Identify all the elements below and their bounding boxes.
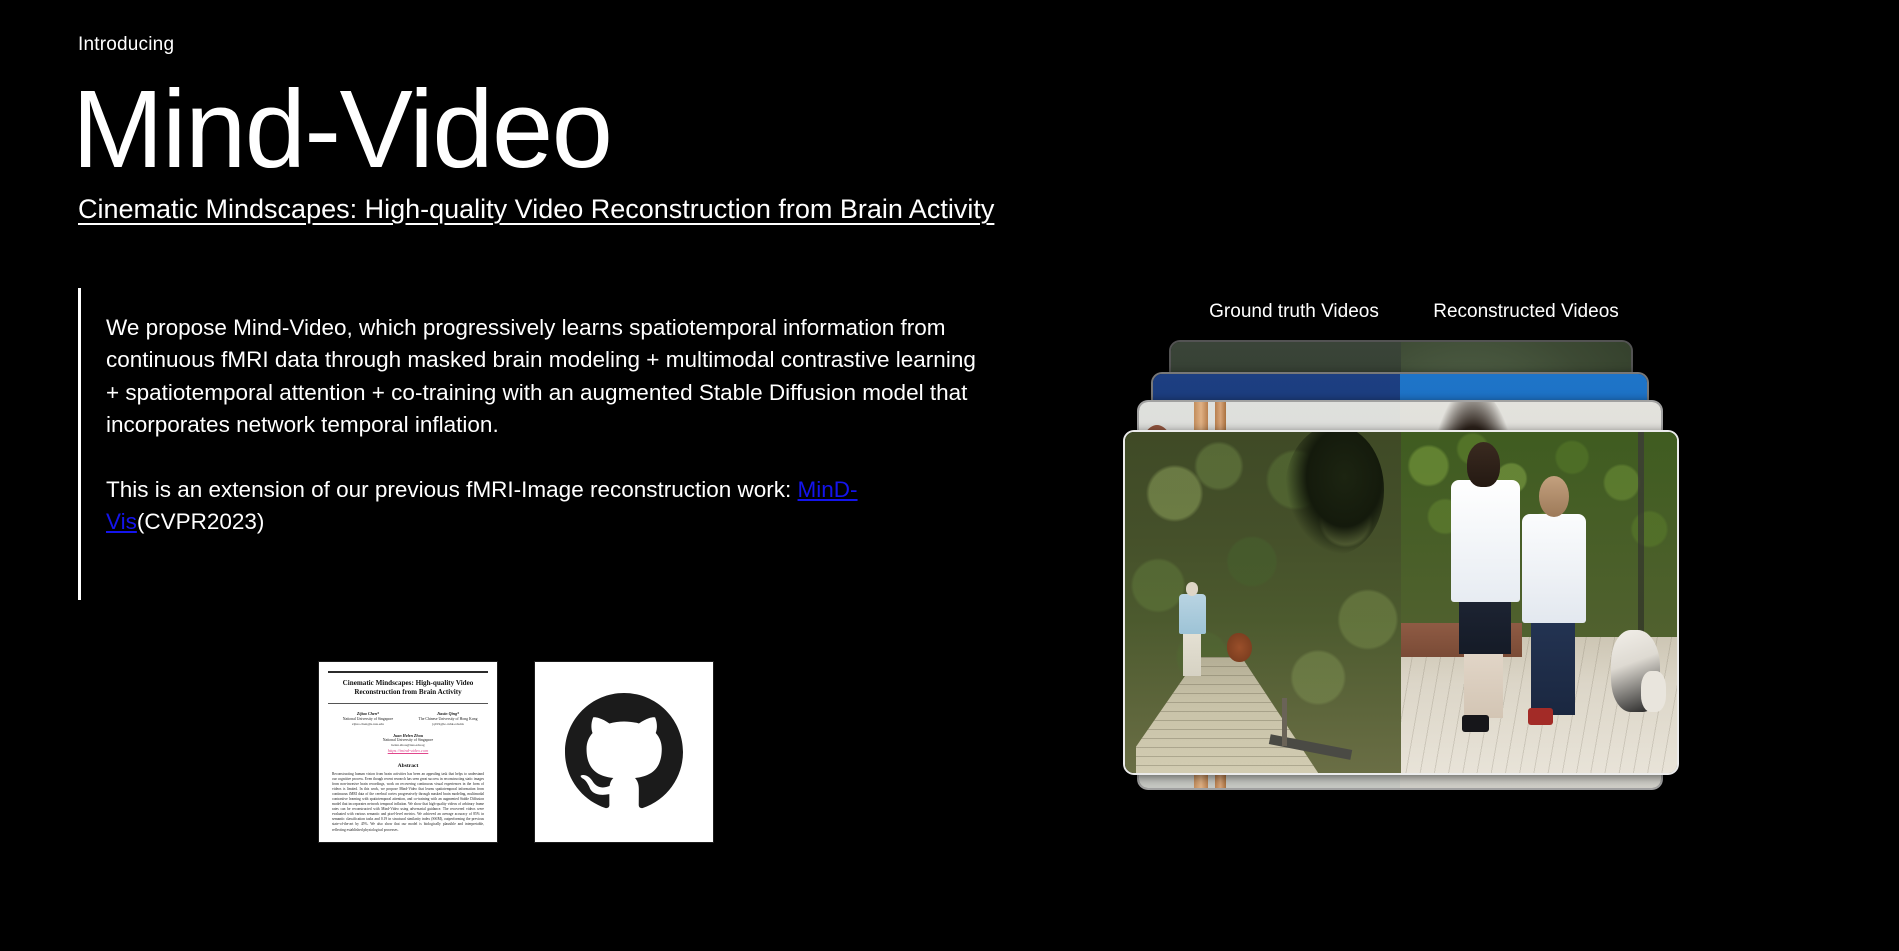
paper-rule-top bbox=[328, 671, 488, 673]
video-card-reconstructed bbox=[1401, 432, 1677, 773]
paper-author-3: Juan Helen Zhou National University of S… bbox=[328, 733, 488, 754]
page-subtitle: Cinematic Mindscapes: High-quality Video… bbox=[78, 192, 994, 226]
paper-rule-bottom bbox=[328, 703, 488, 704]
asset-links: Cinematic Mindscapes: High-quality Video… bbox=[318, 661, 714, 843]
accent-bar bbox=[78, 288, 81, 600]
paper-abstract-text: Reconstructing human vision from brain a… bbox=[328, 772, 488, 833]
paper-link[interactable]: Cinematic Mindscapes: High-quality Video… bbox=[318, 661, 498, 843]
description-paragraph-2-lead: This is an extension of our previous fMR… bbox=[106, 477, 798, 502]
video-panel: Ground truth Videos Reconstructed Videos bbox=[1123, 300, 1703, 900]
paper-author-2-email: jq019@ie.cuhk.edu.hk bbox=[410, 722, 487, 727]
page-root: Introducing Mind-Video Cinematic Mindsca… bbox=[0, 0, 1899, 951]
paper-author-2: Jiaxin Qing* The Chinese University of H… bbox=[410, 711, 487, 726]
paper-authors: Zijiao Chen* National University of Sing… bbox=[328, 711, 488, 754]
github-thumbnail[interactable] bbox=[534, 661, 714, 843]
video-card[interactable] bbox=[1123, 430, 1679, 775]
intro-label: Introducing bbox=[78, 33, 174, 57]
video-card-stack bbox=[1123, 300, 1703, 860]
paper-abstract-heading: Abstract bbox=[328, 763, 488, 769]
github-link[interactable] bbox=[534, 661, 714, 843]
paper-project-url: https://mind-video.com bbox=[328, 748, 488, 754]
paper-author-1-email: zijiao.chen@u.nus.edu bbox=[330, 722, 407, 727]
description-paragraph-1: We propose Mind-Video, which progressive… bbox=[106, 312, 976, 442]
paper-author-row-1: Zijiao Chen* National University of Sing… bbox=[328, 711, 488, 726]
paper-thumbnail[interactable]: Cinematic Mindscapes: High-quality Video… bbox=[318, 661, 498, 843]
video-card-ground-truth bbox=[1125, 432, 1401, 773]
description-text: We propose Mind-Video, which progressive… bbox=[106, 312, 976, 538]
github-icon bbox=[565, 693, 683, 811]
paper-title: Cinematic Mindscapes: High-quality Video… bbox=[328, 679, 488, 697]
description-paragraph-2: This is an extension of our previous fMR… bbox=[106, 474, 976, 539]
page-title: Mind-Video bbox=[72, 72, 611, 188]
paper-author-1: Zijiao Chen* National University of Sing… bbox=[330, 711, 407, 726]
description-paragraph-2-tail: (CVPR2023) bbox=[137, 509, 265, 534]
